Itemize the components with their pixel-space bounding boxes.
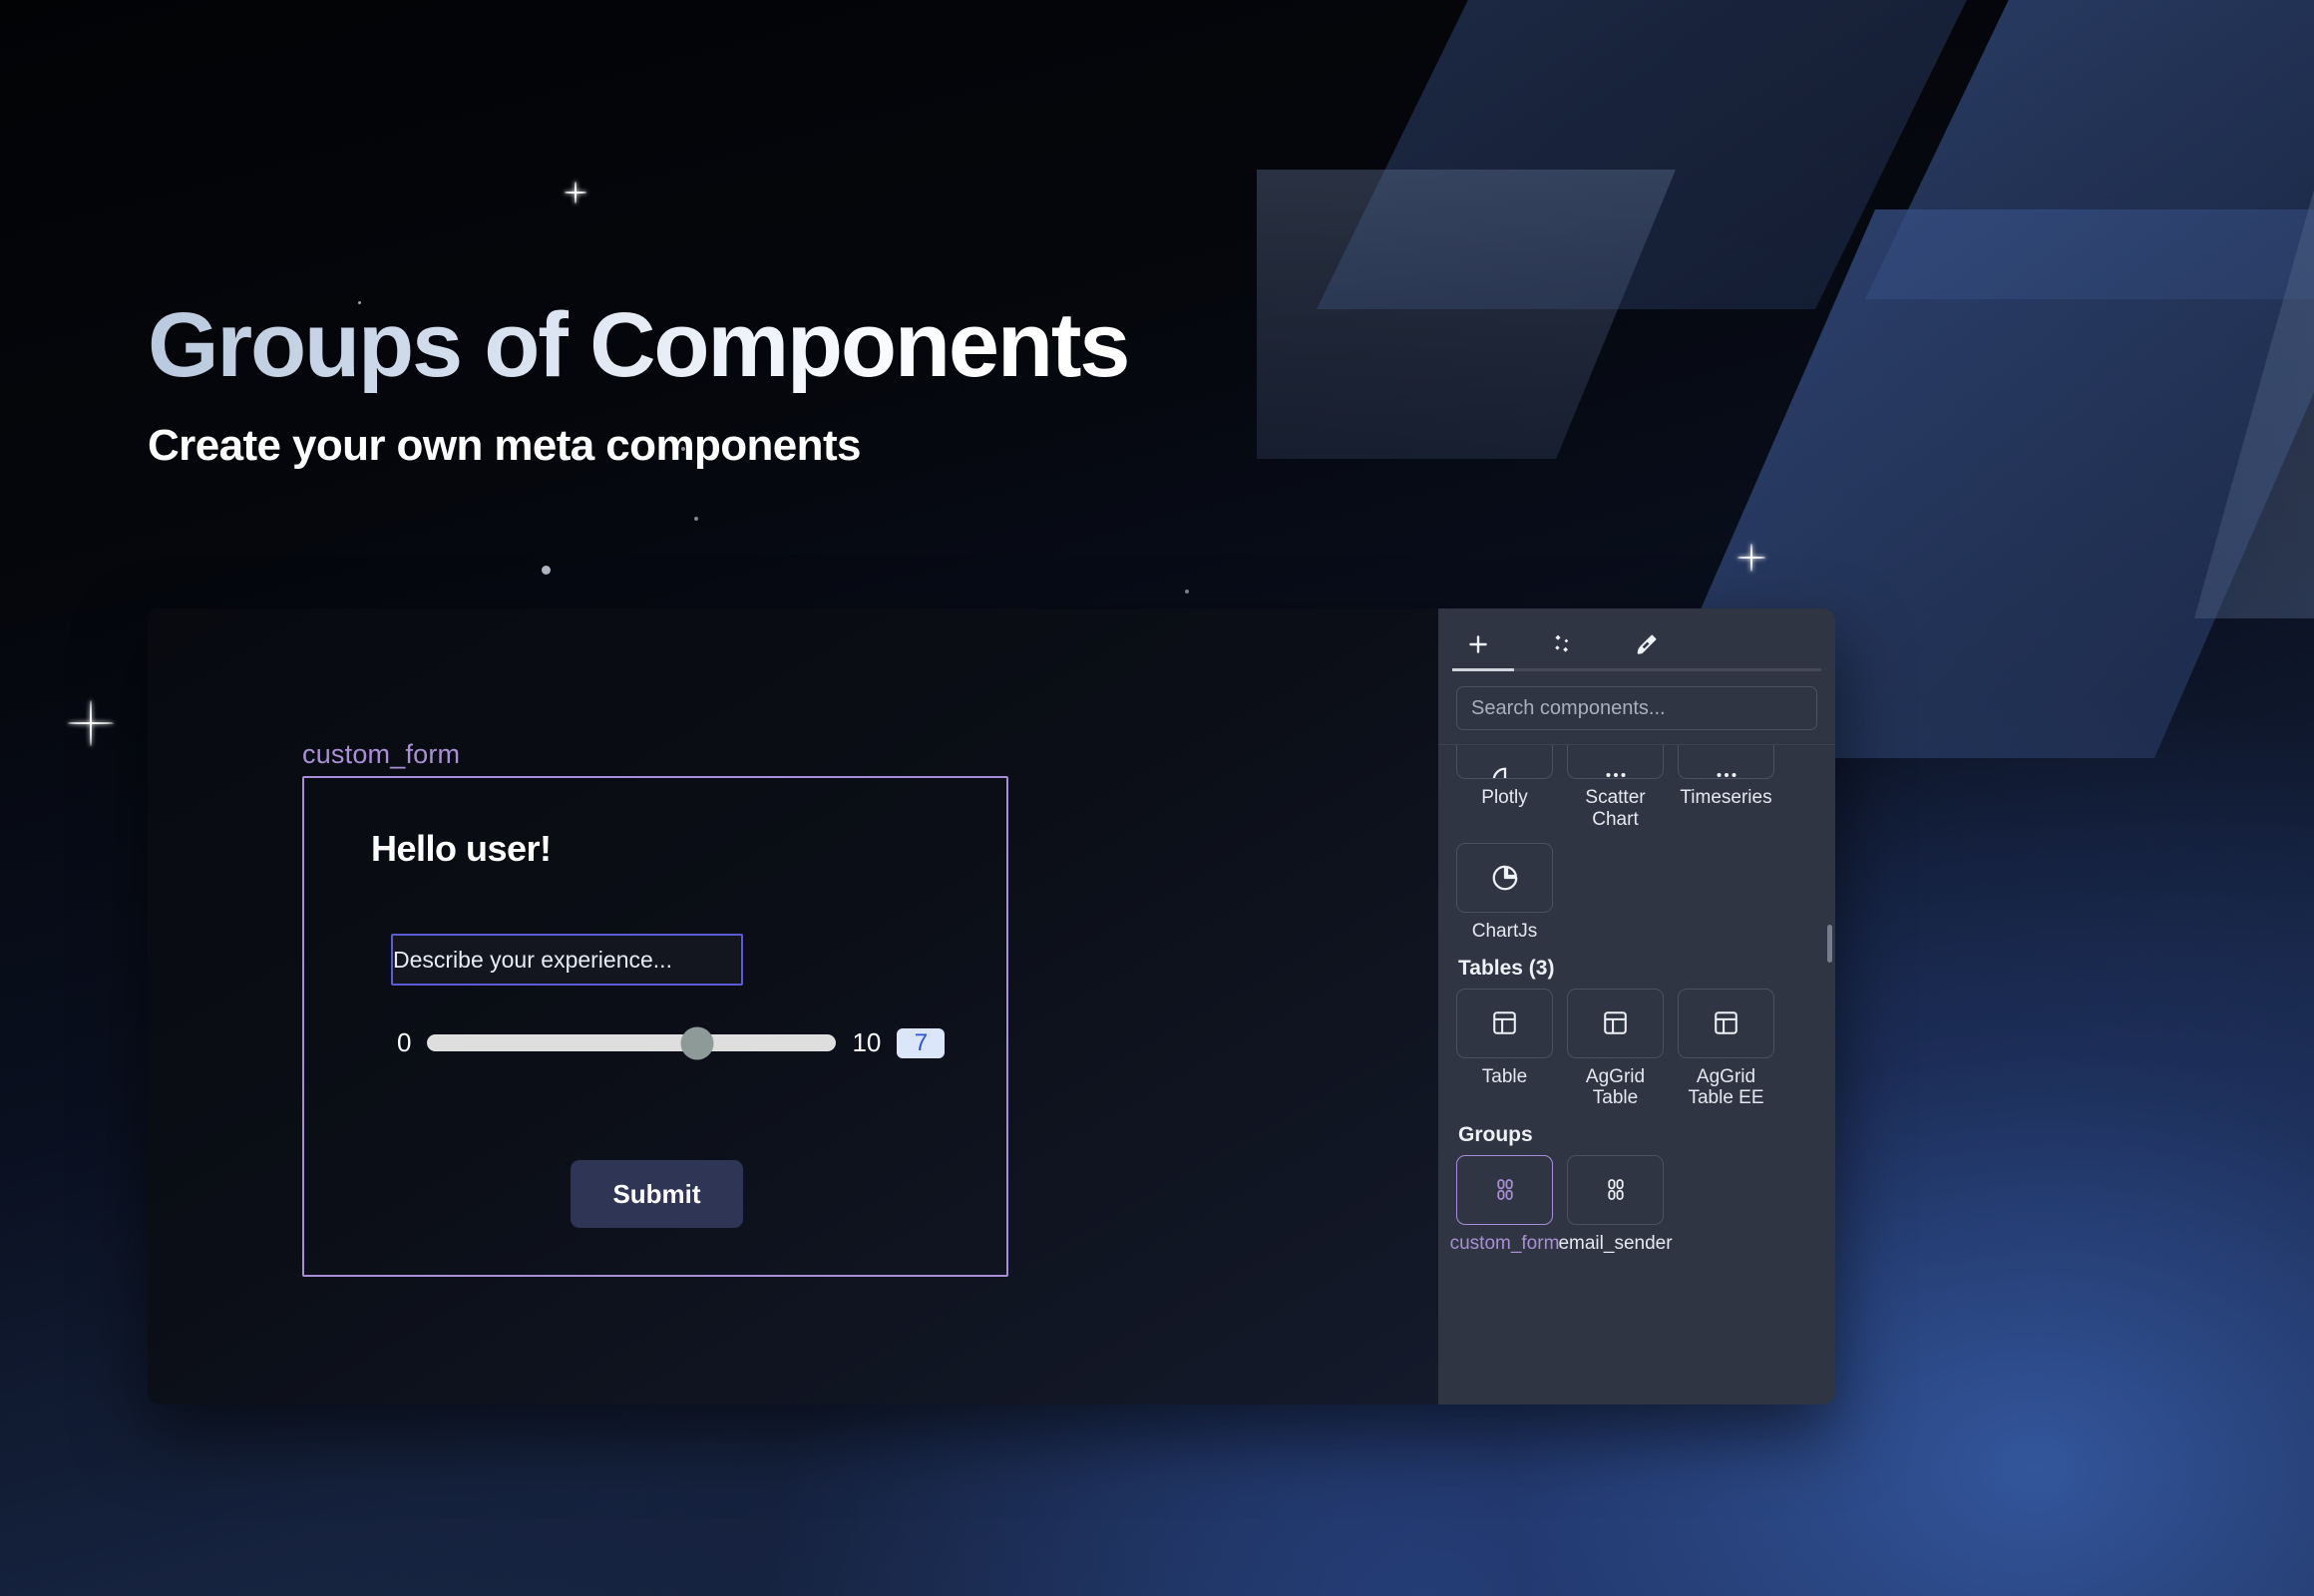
palette-item-aggrid-table[interactable]: AgGrid Table (1567, 989, 1664, 1110)
experience-text-input[interactable] (391, 934, 743, 986)
background-dot (542, 566, 551, 575)
slider-value-badge: 7 (897, 1028, 945, 1058)
palette-item-table[interactable]: Table (1456, 989, 1553, 1110)
palette-item-label: AgGrid Table EE (1678, 1066, 1774, 1110)
add-tab[interactable] (1460, 626, 1496, 662)
dots-grid-icon (1678, 745, 1774, 779)
palette-item-label: Table (1482, 1066, 1527, 1088)
palette-item-label: ChartJs (1472, 921, 1537, 943)
palette-item-scatter-chart[interactable]: Scatter Chart (1567, 745, 1664, 831)
background-dot (1185, 590, 1189, 594)
palette-item-label: Scatter Chart (1567, 787, 1664, 831)
submit-button[interactable]: Submit (571, 1160, 743, 1228)
experience-slider[interactable]: 0 10 7 (397, 1027, 945, 1058)
group-name-label: custom_form (302, 739, 460, 770)
tab-underline-active (1452, 668, 1514, 671)
slider-track[interactable] (427, 1034, 836, 1051)
tables-grid: Table AgGrid Table (1456, 989, 1817, 1110)
palette-scroll-area[interactable]: Plotly Scatter Chart (1438, 744, 1835, 1404)
group-icon (1567, 1155, 1664, 1225)
sparkle-icon (68, 700, 114, 746)
pie-chart-icon (1456, 843, 1553, 913)
section-title-groups: Groups (1458, 1123, 1817, 1147)
sparkle-icon (565, 182, 586, 203)
palette-item-label: Plotly (1481, 787, 1527, 809)
palette-item-label: email_sender (1558, 1233, 1672, 1255)
styles-tab[interactable] (1628, 626, 1664, 662)
sparkle-icon (1737, 544, 1765, 572)
page-subtitle: Create your own meta components (148, 421, 1128, 471)
palette-item-label: Timeseries (1680, 787, 1771, 809)
palette-item-label: AgGrid Table (1567, 1066, 1664, 1110)
page-title: Groups of Components (148, 299, 1128, 393)
palette-item-custom-form[interactable]: custom_form (1456, 1155, 1553, 1255)
slider-min-label: 0 (397, 1027, 411, 1058)
table-icon (1678, 989, 1774, 1058)
hero-heading-block: Groups of Components Create your own met… (148, 299, 1128, 471)
dots-grid-icon (1567, 745, 1664, 779)
group-icon (1456, 1155, 1553, 1225)
slider-thumb[interactable] (681, 1026, 714, 1059)
table-icon (1567, 989, 1664, 1058)
pie-chart-icon (1456, 745, 1553, 779)
palette-item-chartjs[interactable]: ChartJs (1456, 843, 1553, 943)
table-icon (1456, 989, 1553, 1058)
palette-item-aggrid-table-ee[interactable]: AgGrid Table EE (1678, 989, 1774, 1110)
palette-item-label: custom_form (1450, 1233, 1560, 1255)
component-palette: Plotly Scatter Chart (1438, 608, 1835, 1404)
greeting-text: Hello user! (371, 828, 552, 870)
section-title-tables: Tables (3) (1458, 957, 1817, 981)
charts-grid-row2: ChartJs (1456, 843, 1817, 943)
background-dot (694, 517, 698, 521)
palette-item-plotly[interactable]: Plotly (1456, 745, 1553, 831)
components-tab[interactable] (1544, 626, 1580, 662)
search-input[interactable] (1456, 686, 1817, 730)
palette-tabs (1438, 608, 1835, 664)
charts-grid: Plotly Scatter Chart (1456, 745, 1817, 831)
slider-max-label: 10 (852, 1027, 881, 1058)
palette-item-email-sender[interactable]: email_sender (1567, 1155, 1664, 1255)
palette-item-timeseries[interactable]: Timeseries (1678, 745, 1774, 831)
groups-grid: custom_form email_sender (1456, 1155, 1817, 1255)
tab-underline-track (1452, 668, 1821, 671)
palette-scrollbar[interactable] (1827, 925, 1832, 963)
